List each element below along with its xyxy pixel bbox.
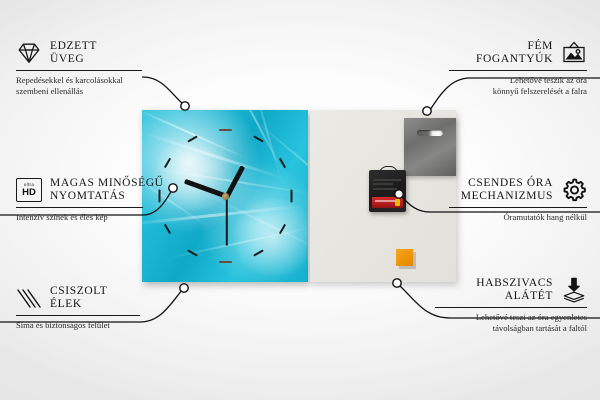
ultra-hd-main-label: HD	[22, 188, 36, 198]
callout-header: CSENDES ÓRA MECHANIZMUS	[449, 177, 587, 203]
callout-description: Lehetővé teszik az óra könnyű felszerelé…	[449, 75, 587, 97]
ultra-hd-icon: ultra HD	[16, 177, 42, 203]
callout-csiszolt-elek[interactable]: CSISZOLT ÉLEK Sima és biztonságos felüle…	[16, 285, 140, 331]
metal-hanger-plate	[404, 118, 456, 176]
clock-mark-8	[164, 224, 171, 235]
connector-line-edzett-uveg	[142, 77, 183, 104]
clock-mechanism	[369, 170, 406, 212]
callout-rule	[435, 307, 587, 308]
callout-description: Sima és biztonságos felület	[16, 320, 140, 331]
callout-habszivacs-alatet[interactable]: HABSZIVACS ALÁTÉT Lehetővé teszi az óra …	[435, 277, 587, 334]
foam-spacer-icon	[561, 277, 587, 303]
infographic-canvas: EDZETT ÜVEG Repedésekkel és karcolásokka…	[0, 0, 600, 400]
callout-edzett-uveg[interactable]: EDZETT ÜVEG Repedésekkel és karcolásokka…	[16, 40, 142, 97]
connector-dot-csiszolt-elek	[180, 284, 188, 292]
clock-battery	[372, 197, 403, 208]
diamond-icon	[16, 40, 42, 66]
callout-header: HABSZIVACS ALÁTÉT	[435, 277, 587, 303]
gear-icon	[561, 177, 587, 203]
polished-edges-icon	[16, 285, 42, 311]
clock-mark-3	[290, 190, 292, 203]
clock-center-pivot	[222, 193, 229, 200]
callout-title: HABSZIVACS ALÁTÉT	[476, 277, 553, 303]
callout-rule	[449, 207, 587, 208]
callout-description: Óramutatók hang nélkül	[449, 212, 587, 223]
callout-title: FÉM FOGANTYÚK	[476, 40, 553, 66]
mechanism-detail	[373, 179, 401, 181]
callout-title: CSISZOLT ÉLEK	[50, 285, 107, 311]
callout-header: ultra HD MAGAS MINŐSÉGŰ NYOMTATÁS	[16, 177, 143, 203]
battery-plus-terminal	[395, 199, 400, 206]
callout-csendes-ora-mechanizmus[interactable]: CSENDES ÓRA MECHANIZMUS Óramutatók hang …	[449, 177, 587, 223]
battery-label-strip	[375, 200, 395, 202]
callout-title: CSENDES ÓRA MECHANIZMUS	[461, 177, 553, 203]
callout-title: EDZETT ÜVEG	[50, 40, 97, 66]
callout-header: FÉM FOGANTYÚK	[449, 40, 587, 66]
callout-header: CSISZOLT ÉLEK	[16, 285, 140, 311]
callout-rule	[16, 207, 143, 208]
clock-second-hand	[226, 194, 228, 246]
clock-mark-1	[253, 135, 264, 142]
mechanism-detail	[373, 183, 393, 185]
callout-header: EDZETT ÜVEG	[16, 40, 142, 66]
callout-title: MAGAS MINŐSÉGŰ NYOMTATÁS	[50, 177, 164, 203]
mechanism-detail	[373, 188, 397, 190]
callout-description: Intenzív színek és éles kép	[16, 212, 143, 223]
callout-magas-minosegu-nyomtatas[interactable]: ultra HD MAGAS MINŐSÉGŰ NYOMTATÁS Intenz…	[16, 177, 143, 223]
callout-rule	[16, 70, 142, 71]
callout-rule	[449, 70, 587, 71]
connector-dot-edzett-uveg	[181, 102, 189, 110]
callout-rule	[16, 315, 140, 316]
callout-fem-fogantyuk[interactable]: FÉM FOGANTYÚK Lehetővé teszik az óra kön…	[449, 40, 587, 97]
callout-description: Repedésekkel és karcolásokkal szembeni e…	[16, 75, 142, 97]
clock-mark-12	[219, 129, 232, 131]
clock-mark-6	[219, 261, 232, 263]
foam-spacer-pad	[396, 249, 413, 266]
hanger-slot	[417, 130, 443, 136]
clock-front-panel	[142, 110, 308, 282]
wall-hanger-icon	[561, 40, 587, 66]
mechanism-hanger-loop	[379, 166, 398, 175]
callout-description: Lehetővé teszi az óra egyenletes távolsá…	[435, 312, 587, 334]
